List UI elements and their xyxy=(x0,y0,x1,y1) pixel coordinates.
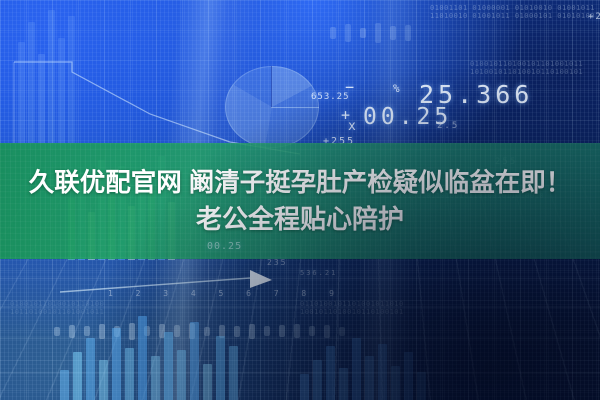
headline-line-2: 老公全程贴心陪护 xyxy=(196,204,404,234)
minus-symbol: − xyxy=(345,78,356,96)
binary-text-right: 010010110100101101001011 101001011010010… xyxy=(470,60,583,76)
candle-row-top xyxy=(330,18,411,48)
banner-image: 653.25 − % 25.366 + x 00.25 +255 +255 2.… xyxy=(0,0,600,400)
headline-line-1: 久联优配官网 阚清子挺孕肚产检疑似临盆在即！ xyxy=(29,168,572,198)
value-653-25: 653.25 xyxy=(311,92,350,102)
percent-symbol: % xyxy=(393,82,402,95)
tag-25: 2.5 xyxy=(437,121,459,131)
binary-text-top-right: 01001101 01000001 01010010 01001011 1101… xyxy=(430,4,595,20)
multiply-symbol: x xyxy=(348,119,358,134)
bar-chart-background-left xyxy=(18,0,75,150)
bar-chart-bottom-right xyxy=(300,300,426,400)
tag-536-21: 536.21 xyxy=(300,269,337,277)
tag-235: 235 xyxy=(267,258,287,267)
tag-0025-lower: 00.25 xyxy=(207,241,242,252)
headline-block: 久联优配官网 阚清子挺孕肚产检疑似临盆在即！ 老公全程贴心陪护 xyxy=(0,143,600,259)
bar-chart-main-bottom xyxy=(60,290,238,400)
